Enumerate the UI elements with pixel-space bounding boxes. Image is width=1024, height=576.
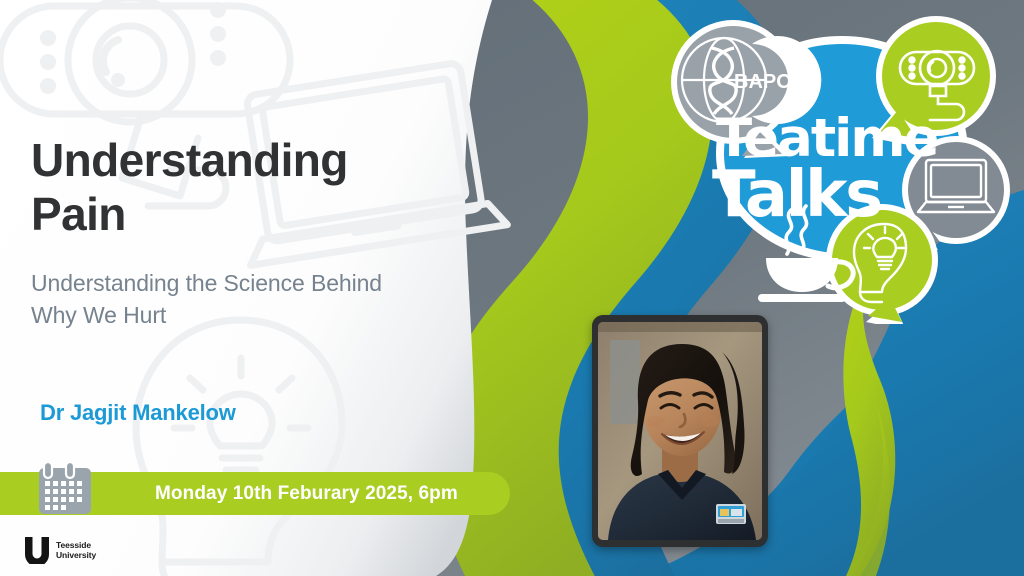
calendar-icon (38, 460, 92, 516)
teesside-university-name: Teesside University (56, 540, 96, 560)
headline-line-1: Understanding (31, 134, 471, 188)
subtitle-line-2: Why We Hurt (31, 300, 471, 332)
bapo-label: BAPO (734, 71, 792, 93)
university-line-2: University (56, 550, 96, 560)
page-title: Understanding Pain (31, 134, 471, 242)
teesside-u-mark (24, 536, 50, 564)
event-date: Monday 10th Feburary 2025, 6pm (155, 483, 458, 505)
headline-line-2: Pain (31, 188, 471, 242)
subtitle-line-1: Understanding the Science Behind (31, 268, 471, 300)
speaker-name: Dr Jagjit Mankelow (40, 400, 236, 426)
page-subtitle: Understanding the Science Behind Why We … (31, 268, 471, 331)
logo-line-2: Talks (712, 158, 881, 232)
event-poster: Understanding Pain Understanding the Sci… (0, 0, 1024, 576)
teatime-talks-logo: BAPO (668, 8, 1016, 324)
teesside-university-logo: Teesside University (24, 536, 96, 564)
speaker-photo-frame (592, 315, 768, 547)
university-line-1: Teesside (56, 540, 96, 550)
speaker-photo (598, 322, 762, 540)
